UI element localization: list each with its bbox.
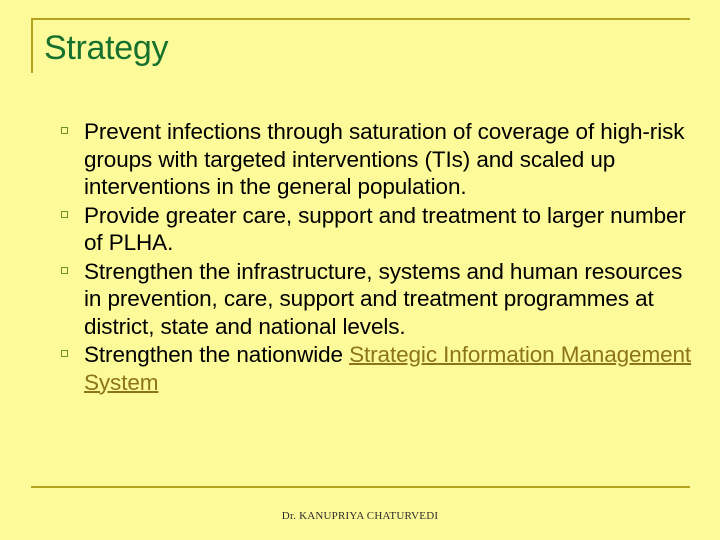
- square-bullet-icon: [61, 350, 68, 357]
- list-item: Strengthen the infrastructure, systems a…: [56, 258, 692, 341]
- title-left-accent-rule: [31, 18, 33, 73]
- strategy-bullet-list: Prevent infections through saturation of…: [56, 118, 692, 397]
- list-item: Provide greater care, support and treatm…: [56, 202, 692, 257]
- list-item-text: Strengthen the infrastructure, systems a…: [84, 259, 682, 339]
- square-bullet-icon: [61, 127, 68, 134]
- list-item-text: Strengthen the nationwide: [84, 342, 349, 367]
- square-bullet-icon: [61, 267, 68, 274]
- list-item: Strengthen the nationwide Strategic Info…: [56, 341, 692, 396]
- footer-author: Dr. KANUPRIYA CHATURVEDI: [0, 510, 720, 522]
- title-top-rule: [31, 18, 690, 20]
- page-title: Strategy: [44, 26, 168, 70]
- list-item-text: Prevent infections through saturation of…: [84, 119, 684, 199]
- presentation-slide: Strategy Prevent infections through satu…: [0, 0, 720, 540]
- square-bullet-icon: [61, 211, 68, 218]
- list-item-text: Provide greater care, support and treatm…: [84, 203, 686, 256]
- footer-separator-rule: [31, 486, 690, 488]
- list-item: Prevent infections through saturation of…: [56, 118, 692, 201]
